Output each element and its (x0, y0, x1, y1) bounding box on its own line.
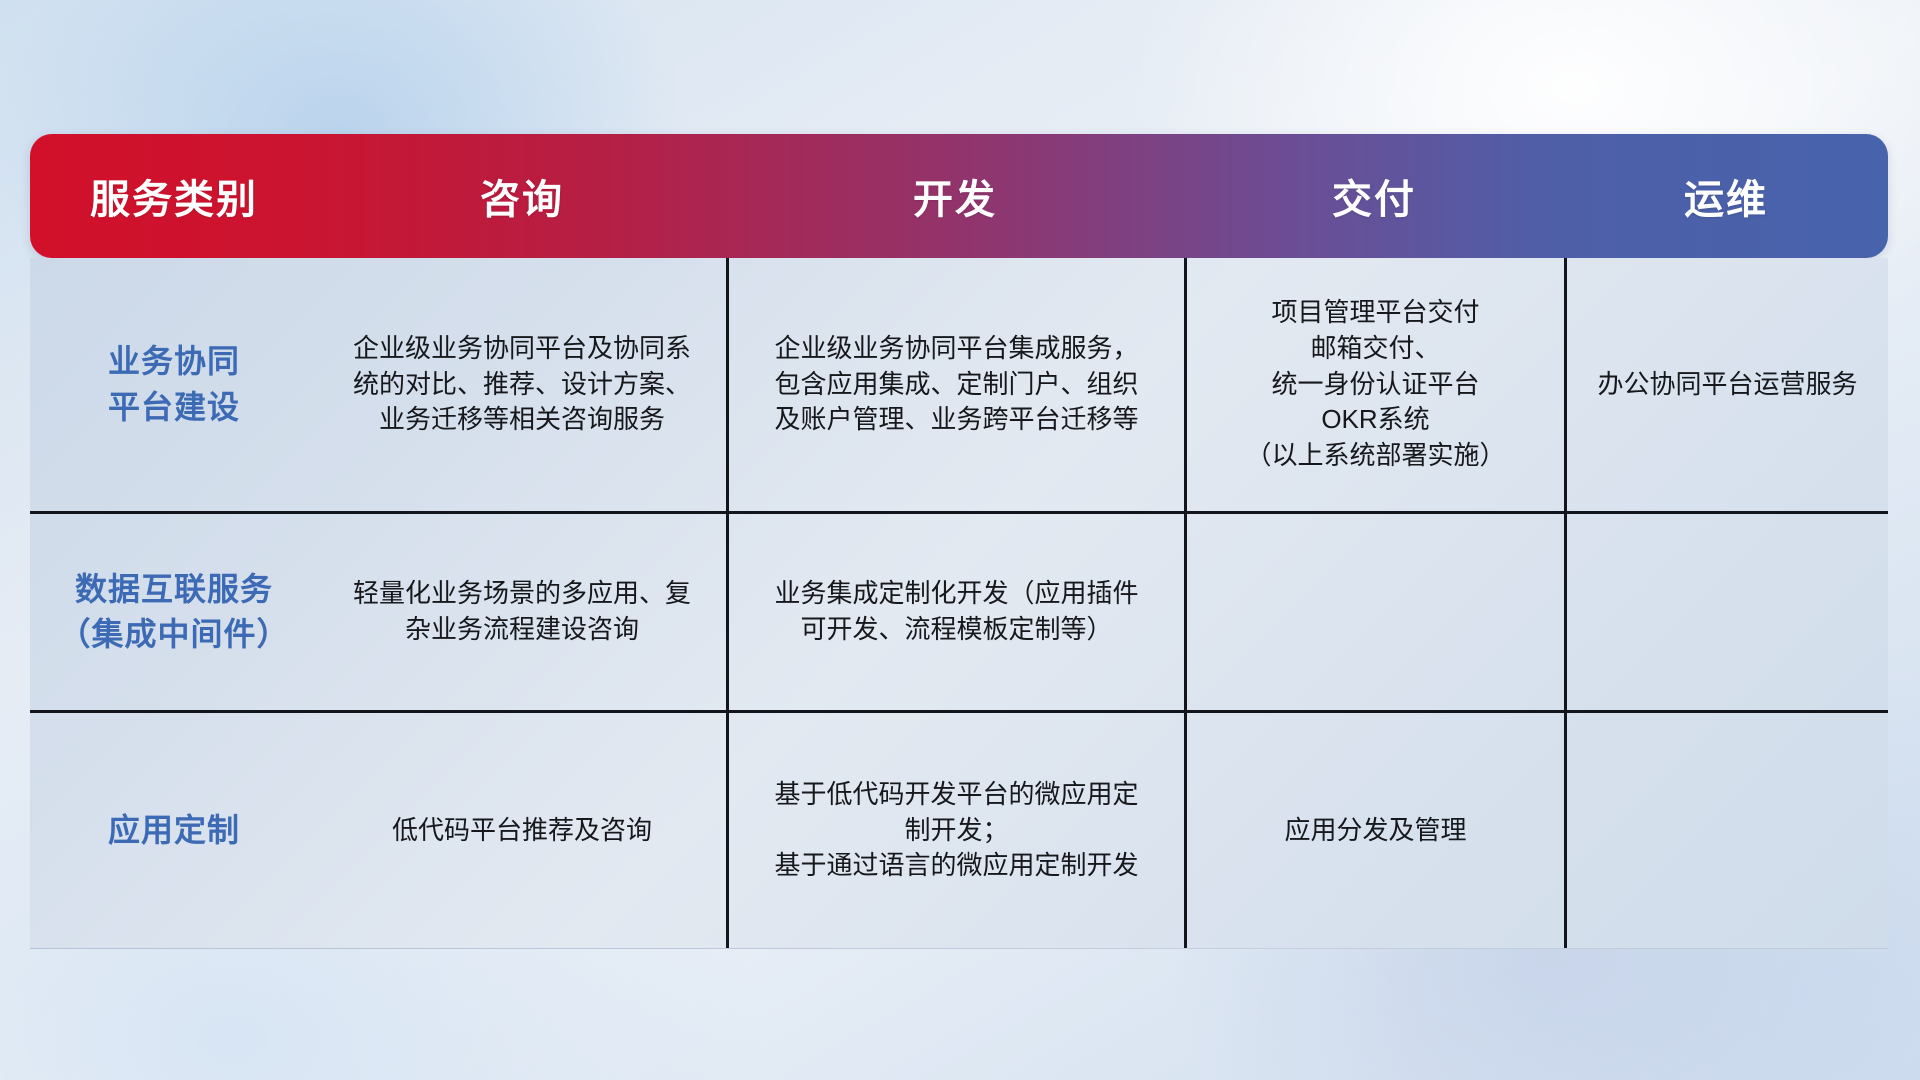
cell-delivery: 应用分发及管理 (1184, 713, 1564, 948)
column-header-consulting: 咨询 (318, 134, 726, 258)
slide-canvas: 服务类别 咨询 开发 交付 运维 业务协同 平台建设 企业级业务协同平台及协同系… (0, 0, 1920, 1080)
cell-operations (1564, 514, 1888, 710)
cell-development: 基于低代码开发平台的微应用定 制开发； 基于通过语言的微应用定制开发 (726, 713, 1184, 948)
cell-consulting: 低代码平台推荐及咨询 (318, 713, 726, 948)
service-matrix-table: 服务类别 咨询 开发 交付 运维 业务协同 平台建设 企业级业务协同平台及协同系… (30, 134, 1888, 949)
table-body: 业务协同 平台建设 企业级业务协同平台及协同系 统的对比、推荐、设计方案、 业务… (30, 258, 1888, 949)
row-category-label: 应用定制 (30, 713, 318, 948)
cell-delivery: 项目管理平台交付 邮箱交付、 统一身份认证平台 OKR系统 （以上系统部署实施） (1184, 258, 1564, 511)
row-category-label: 业务协同 平台建设 (30, 258, 318, 511)
table-row: 业务协同 平台建设 企业级业务协同平台及协同系 统的对比、推荐、设计方案、 业务… (30, 258, 1888, 511)
column-header-label: 运维 (1684, 167, 1768, 225)
cell-operations (1564, 713, 1888, 948)
row-category-label: 数据互联服务 （集成中间件） (30, 514, 318, 710)
cell-development: 企业级业务协同平台集成服务， 包含应用集成、定制门户、组织 及账户管理、业务跨平… (726, 258, 1184, 511)
cell-delivery (1184, 514, 1564, 710)
column-header-service-category: 服务类别 (30, 134, 318, 258)
column-header-label: 咨询 (480, 167, 564, 225)
column-header-delivery: 交付 (1184, 134, 1564, 258)
table-header-row: 服务类别 咨询 开发 交付 运维 (30, 134, 1888, 258)
cell-operations: 办公协同平台运营服务 (1564, 258, 1888, 511)
table-row: 应用定制 低代码平台推荐及咨询 基于低代码开发平台的微应用定 制开发； 基于通过… (30, 710, 1888, 948)
column-header-operations: 运维 (1564, 134, 1888, 258)
column-header-label: 交付 (1332, 167, 1416, 225)
cell-consulting: 轻量化业务场景的多应用、复 杂业务流程建设咨询 (318, 514, 726, 710)
cell-consulting: 企业级业务协同平台及协同系 统的对比、推荐、设计方案、 业务迁移等相关咨询服务 (318, 258, 726, 511)
cell-development: 业务集成定制化开发（应用插件 可开发、流程模板定制等） (726, 514, 1184, 710)
column-header-label: 服务类别 (90, 167, 258, 225)
column-header-development: 开发 (726, 134, 1184, 258)
column-header-label: 开发 (913, 167, 997, 225)
table-row: 数据互联服务 （集成中间件） 轻量化业务场景的多应用、复 杂业务流程建设咨询 业… (30, 511, 1888, 710)
